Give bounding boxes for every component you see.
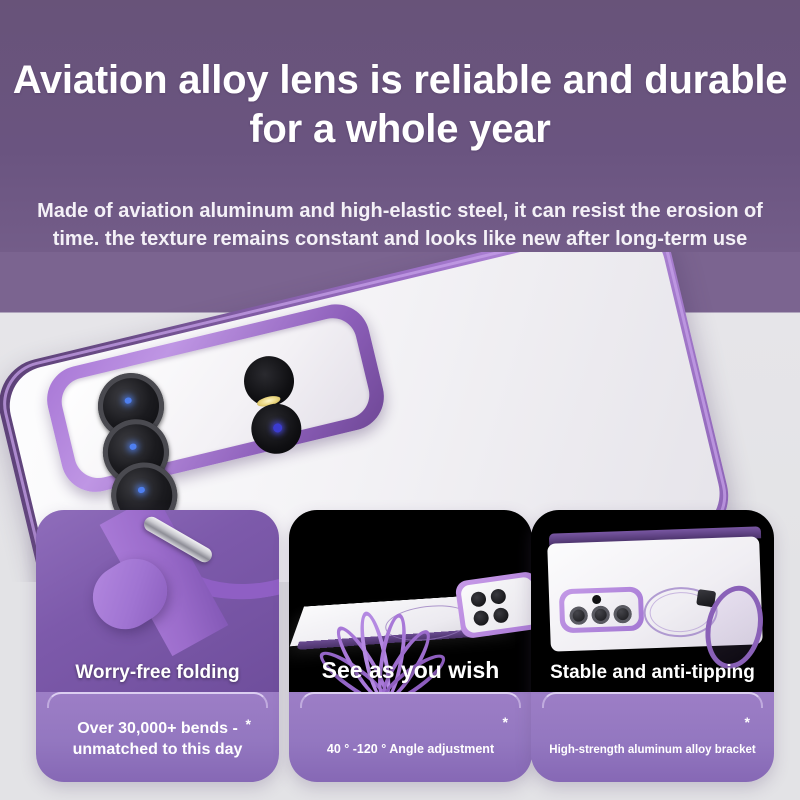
camera-lens-icon <box>613 605 632 624</box>
feature-card-see-as-you-wish[interactable]: See as you wish * 40 ° -120 ° Angle adju… <box>289 510 532 782</box>
card-title: Worry-free folding <box>36 662 279 684</box>
camera-lens-icon <box>591 606 610 625</box>
card-photo: Worry-free folding <box>36 510 279 692</box>
feature-card-list: Worry-free folding * Over 30,000+ bends … <box>0 510 800 800</box>
feature-card-stable-anti-tipping[interactable]: Stable and anti-tipping * High-strength … <box>531 510 774 782</box>
card-caption-panel: * 40 ° -120 ° Angle adjustment <box>289 692 532 782</box>
card-title: Stable and anti-tipping <box>531 662 774 684</box>
product-feature-page: Aviation alloy lens is reliable and dura… <box>0 0 800 800</box>
card-caption: 40 ° -120 ° Angle adjustment <box>289 742 532 756</box>
camera-lens-icon <box>473 610 490 627</box>
card-photo: See as you wish <box>289 510 532 692</box>
feature-card-worry-free-folding[interactable]: Worry-free folding * Over 30,000+ bends … <box>36 510 279 782</box>
camera-sensor-icon <box>592 595 601 604</box>
phone-back-illustration <box>547 536 763 651</box>
camera-lens-icon <box>492 607 509 624</box>
camera-island-inner <box>564 592 639 629</box>
card-title: See as you wish <box>289 657 532 684</box>
footnote-marker: * <box>503 714 508 730</box>
camera-lens-icon <box>569 606 588 625</box>
footnote-marker: * <box>745 714 750 730</box>
hero-subtitle: Made of aviation aluminum and high-elast… <box>0 198 800 253</box>
card-photo: Stable and anti-tipping <box>531 510 774 692</box>
card-caption: High-strength aluminum alloy bracket <box>531 744 774 756</box>
card-divider <box>300 692 521 708</box>
mini-phone-illustration <box>454 571 532 640</box>
page-title: Aviation alloy lens is reliable and dura… <box>0 56 800 154</box>
card-divider <box>542 692 763 708</box>
card-caption-panel: * Over 30,000+ bends - unmatched to this… <box>36 692 279 782</box>
card-divider <box>47 692 268 708</box>
mini-phone-back <box>460 576 532 634</box>
camera-lens-icon <box>490 588 507 605</box>
card-caption: Over 30,000+ bends - unmatched to this d… <box>36 718 279 760</box>
camera-lens-icon <box>470 591 487 608</box>
card-caption-panel: * High-strength aluminum alloy bracket <box>531 692 774 782</box>
camera-island <box>559 586 644 633</box>
